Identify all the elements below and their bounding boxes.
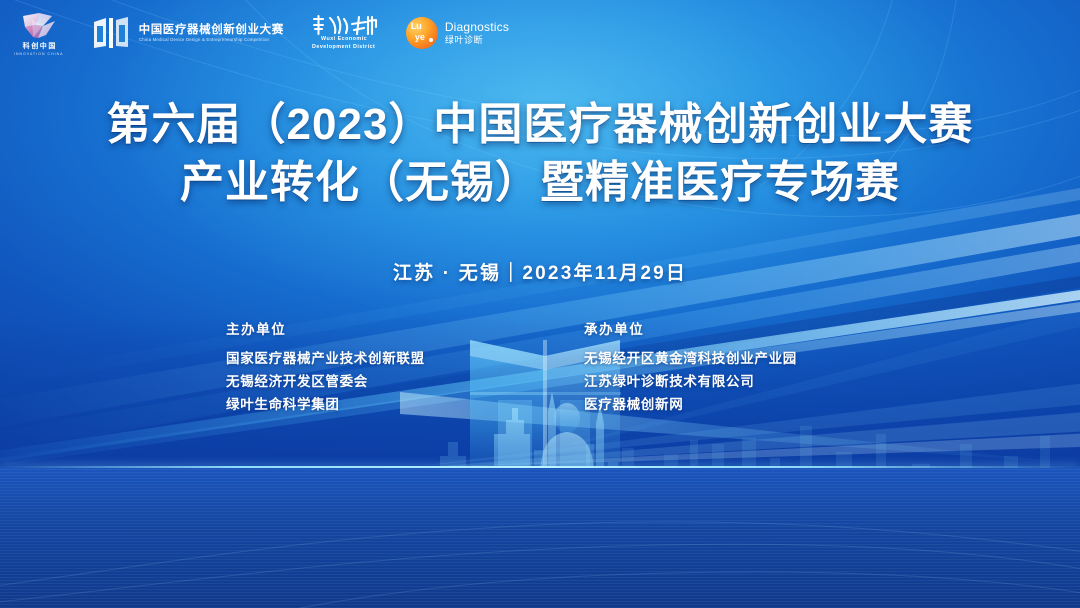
luye-circle-icon: Lu ye <box>406 17 438 49</box>
logo-cmdc-en: China Medical Device Design & Entreprene… <box>139 38 278 42</box>
event-poster: 科创中国 INNOVATION CHINA 中国医疗器械创新创业大赛 China <box>0 0 1080 608</box>
light-rays <box>0 0 1080 608</box>
cmdc-book-gate-icon <box>92 16 132 50</box>
sponsor-logo-bar: 科创中国 INNOVATION CHINA 中国医疗器械创新创业大赛 China <box>0 0 1080 66</box>
logo-luye-en: Diagnostics <box>445 21 509 34</box>
logo-innovation-china-en: INNOVATION CHINA <box>14 52 64 56</box>
water-reflection <box>0 468 1080 608</box>
cohost-column: 承办单位 无锡经开区黄金湾科技创业产业园 江苏绿叶诊断技术有限公司 医疗器械创新… <box>584 318 854 417</box>
host-item: 绿叶生命科学集团 <box>226 393 496 416</box>
luye-mark-top: Lu <box>411 22 422 31</box>
logo-luye-cn: 绿叶诊断 <box>445 36 509 45</box>
organizer-section: 主办单位 国家医疗器械产业技术创新联盟 无锡经济开发区管委会 绿叶生命科学集团 … <box>0 318 1080 417</box>
logo-luye-diagnostics[interactable]: Lu ye Diagnostics 绿叶诊断 <box>406 17 509 49</box>
cohost-item: 医疗器械创新网 <box>584 393 854 416</box>
logo-cmdc[interactable]: 中国医疗器械创新创业大赛 China Medical Device Design… <box>92 16 284 50</box>
horizon-light-line <box>0 466 1080 468</box>
luye-mark-dot <box>429 38 433 42</box>
host-heading: 主办单位 <box>226 318 496 338</box>
event-location-date: 江苏 · 无锡｜2023年11月29日 <box>0 258 1080 285</box>
cohost-item: 无锡经开区黄金湾科技创业产业园 <box>584 347 854 370</box>
logo-wuxi-edd-en-line2: Development District <box>312 44 375 51</box>
logo-wuxi-edd-en-line1: Wuxi Economic <box>321 37 367 44</box>
logo-innovation-china[interactable]: 科创中国 INNOVATION CHINA <box>14 10 66 56</box>
luye-mark-bottom: ye <box>415 33 425 42</box>
poster-title: 第六届（2023）中国医疗器械创新创业大赛 产业转化（无锡）暨精准医疗专场赛 <box>0 96 1080 212</box>
wuxi-calligraphy-icon <box>310 14 380 36</box>
logo-wuxi-edd[interactable]: Wuxi Economic Development District <box>310 14 380 51</box>
cohost-heading: 承办单位 <box>584 318 854 338</box>
host-column: 主办单位 国家医疗器械产业技术创新联盟 无锡经济开发区管委会 绿叶生命科学集团 <box>226 318 496 417</box>
background-curve-lines <box>0 0 1080 608</box>
cohost-item: 江苏绿叶诊断技术有限公司 <box>584 370 854 393</box>
title-line-1: 第六届（2023）中国医疗器械创新创业大赛 <box>0 96 1080 154</box>
title-line-2: 产业转化（无锡）暨精准医疗专场赛 <box>0 154 1080 212</box>
logo-innovation-china-cn: 科创中国 <box>23 41 57 51</box>
host-item: 无锡经济开发区管委会 <box>226 370 496 393</box>
water-swirl-lines <box>0 468 1080 608</box>
innovation-china-bird-icon <box>19 10 61 40</box>
host-item: 国家医疗器械产业技术创新联盟 <box>226 347 496 370</box>
logo-cmdc-cn: 中国医疗器械创新创业大赛 <box>139 24 284 36</box>
